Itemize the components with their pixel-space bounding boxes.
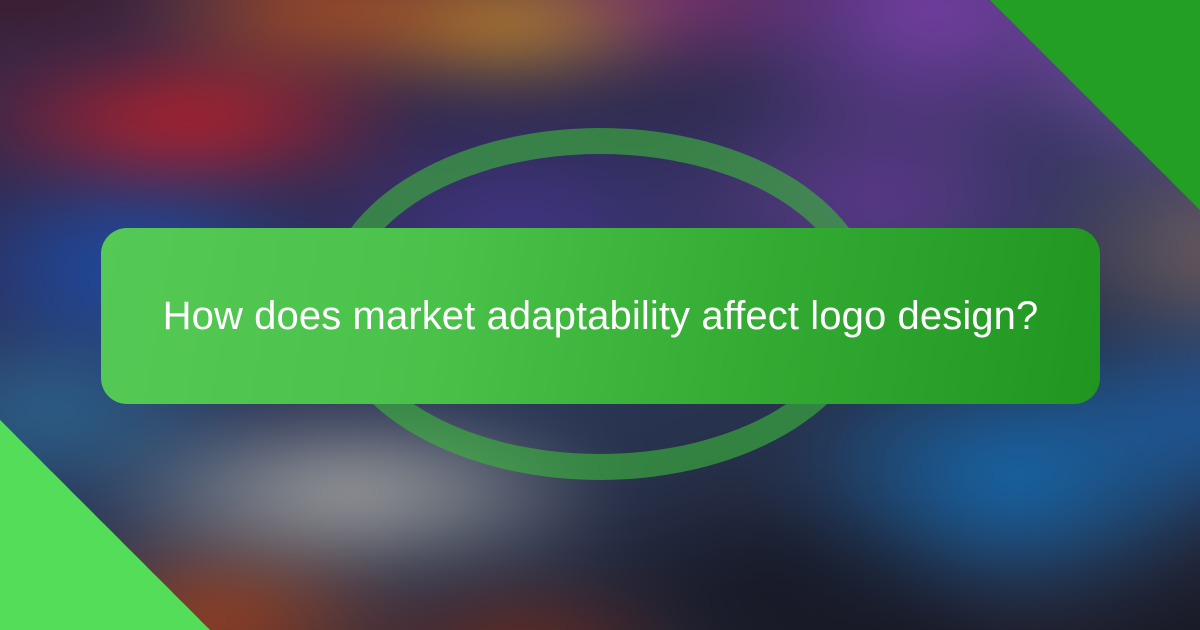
- title-card: How does market adaptability affect logo…: [101, 228, 1100, 404]
- share-card-image: How does market adaptability affect logo…: [0, 0, 1200, 630]
- card-title: How does market adaptability affect logo…: [155, 290, 1046, 342]
